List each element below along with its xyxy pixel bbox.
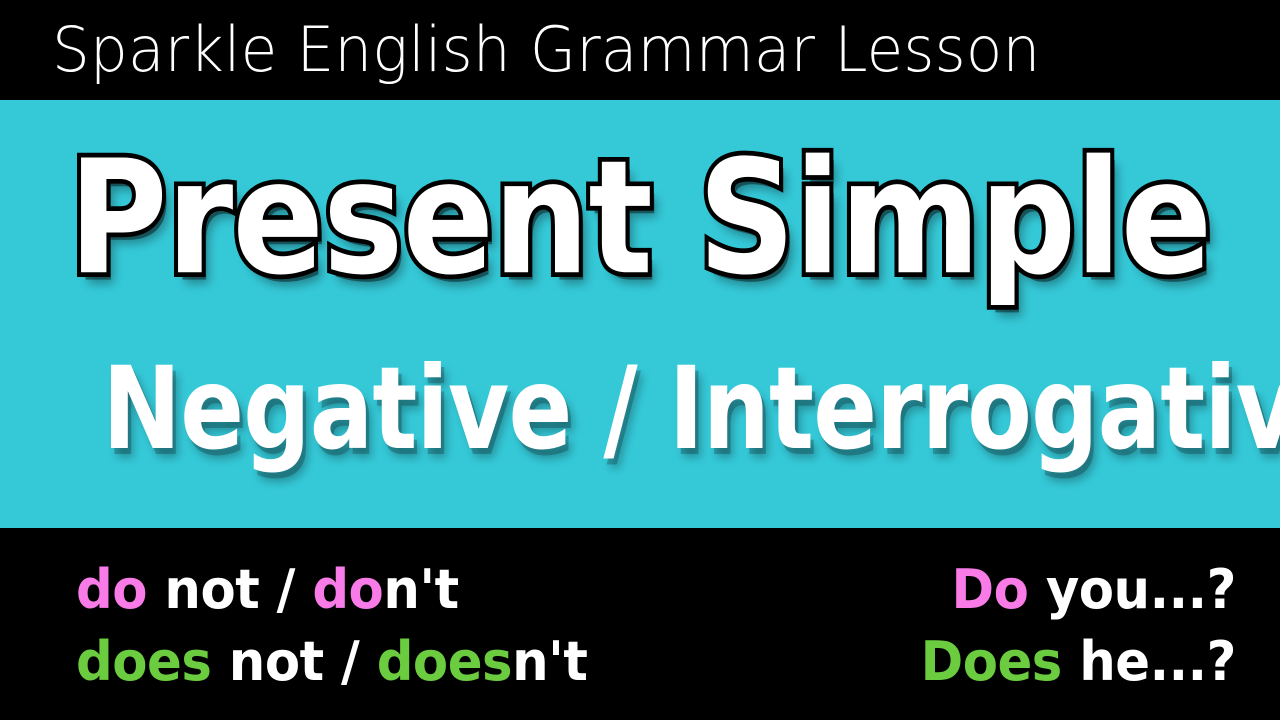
interrogative-line-does: Does he...? [921, 626, 1236, 698]
interrogative-forms-column: Do you...? Does he...? [904, 554, 1236, 698]
negative-do-separator: not / [147, 558, 312, 621]
negative-form-line-does: does not / doesn't [76, 626, 587, 698]
lesson-slide: Sparkle English Grammar Lesson Present S… [0, 0, 1280, 720]
interrogative-do-auxiliary: Do [952, 558, 1029, 621]
negative-does-auxiliary: does [76, 630, 211, 693]
negative-does-separator: not / [211, 630, 376, 693]
channel-title: Sparkle English Grammar Lesson [52, 19, 1040, 81]
hero-band: Present Simple Negative / Interrogative [0, 100, 1280, 528]
header-bar: Sparkle English Grammar Lesson [0, 0, 1280, 100]
interrogative-line-do: Do you...? [921, 554, 1236, 626]
interrogative-does-subject: he...? [1062, 630, 1236, 693]
negative-dont-stem: do [312, 558, 383, 621]
negative-do-auxiliary: do [76, 558, 147, 621]
page-subtitle: Negative / Interrogative [102, 352, 1177, 466]
negative-forms-column: do not / don't does not / doesn't [76, 554, 614, 698]
negative-doesnt-stem: does [377, 630, 512, 693]
negative-form-line-do: do not / don't [76, 554, 587, 626]
interrogative-do-subject: you...? [1028, 558, 1236, 621]
page-title: Present Simple [64, 140, 1216, 298]
interrogative-does-auxiliary: Does [921, 630, 1062, 693]
footer-bar: do not / don't does not / doesn't Do you… [0, 528, 1280, 720]
negative-dont-suffix: n't [383, 558, 458, 621]
negative-doesnt-suffix: n't [512, 630, 587, 693]
